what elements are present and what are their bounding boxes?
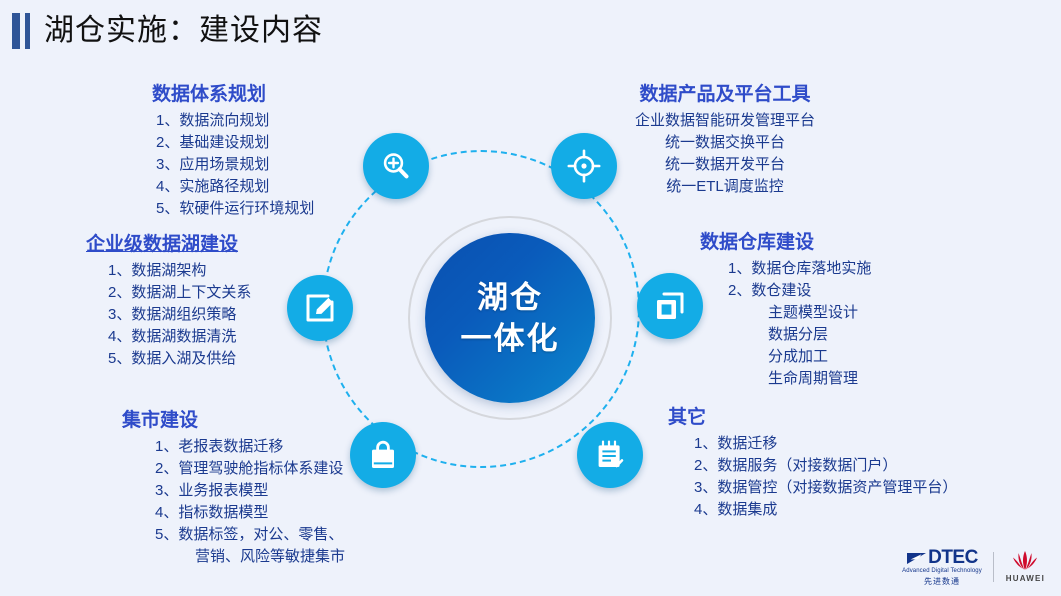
list-item: 1、老报表数据迁移 [155, 436, 345, 458]
magnifier-plus-icon[interactable] [363, 133, 429, 199]
list-item: 3、数据管控（对接数据资产管理平台） [694, 477, 957, 499]
footer-logo-group: DTEC Advanced Digital Technology 先进数通 HU… [902, 546, 1045, 588]
center-hub-line-1: 湖仓 [477, 277, 543, 318]
block-data-system-planning: 数据体系规划 1、数据流向规划 2、基础建设规划 3、应用场景规划 4、实施路径… [120, 82, 314, 220]
list-item: 5、数据入湖及供给 [108, 348, 251, 370]
list-item: 营销、风险等敏捷集市 [155, 546, 345, 568]
block-heading: 其它 [668, 405, 957, 431]
list-item: 3、业务报表模型 [155, 480, 345, 502]
list-item: 2、管理驾驶舱指标体系建设 [155, 458, 345, 480]
list-item: 3、数据湖组织策略 [108, 304, 251, 326]
title-accent-bar-outer [12, 13, 20, 49]
list-item: 5、软硬件运行环境规划 [156, 198, 314, 220]
block-item-list: 1、数据仓库落地实施 2、数仓建设 主题模型设计 数据分层 分成加工 生命周期管… [700, 258, 871, 390]
dtec-tagline: Advanced Digital Technology [902, 567, 982, 576]
list-item: 4、指标数据模型 [155, 502, 345, 524]
list-item: 2、基础建设规划 [156, 132, 314, 154]
list-item: 1、数据流向规划 [156, 110, 314, 132]
block-item-list: 1、老报表数据迁移 2、管理驾驶舱指标体系建设 3、业务报表模型 4、指标数据模… [117, 436, 345, 568]
list-item: 1、数据湖架构 [108, 260, 251, 282]
list-item: 4、实施路径规划 [156, 176, 314, 198]
list-item: 生命周期管理 [728, 368, 871, 390]
center-hub-line-2: 一体化 [461, 318, 560, 359]
list-item: 4、数据集成 [694, 499, 957, 521]
list-item: 1、数据迁移 [694, 433, 957, 455]
dtec-arrow-icon [906, 549, 928, 566]
dtec-logo-row: DTEC [906, 548, 978, 567]
block-item-list: 企业数据智能研发管理平台 统一数据交换平台 统一数据开发平台 统一ETL调度监控 [600, 110, 850, 198]
edit-pencil-icon[interactable] [287, 275, 353, 341]
copy-layers-icon[interactable] [637, 273, 703, 339]
list-item: 2、数仓建设 [728, 280, 871, 302]
block-data-mart: 集市建设 1、老报表数据迁移 2、管理驾驶舱指标体系建设 3、业务报表模型 4、… [117, 408, 345, 568]
list-item: 统一ETL调度监控 [600, 176, 850, 198]
huawei-flower-icon [1010, 550, 1040, 572]
block-enterprise-data-lake: 企业级数据湖建设 1、数据湖架构 2、数据湖上下文关系 3、数据湖组织策略 4、… [78, 232, 251, 370]
dtec-logo: DTEC Advanced Digital Technology 先进数通 [902, 548, 993, 587]
huawei-wordmark: HUAWEI [1006, 573, 1045, 584]
block-item-list: 1、数据流向规划 2、基础建设规划 3、应用场景规划 4、实施路径规划 5、软硬… [120, 110, 314, 220]
list-item: 3、应用场景规划 [156, 154, 314, 176]
slide-header: 湖仓实施：建设内容 [0, 0, 1061, 62]
list-item: 5、数据标签，对公、零售、 [155, 524, 345, 546]
block-heading: 数据仓库建设 [700, 230, 871, 256]
list-item: 2、数据服务（对接数据门户） [694, 455, 957, 477]
list-item: 统一数据开发平台 [600, 154, 850, 176]
block-data-products-platform-tools: 数据产品及平台工具 企业数据智能研发管理平台 统一数据交换平台 统一数据开发平台… [600, 82, 850, 198]
page-title: 湖仓实施：建设内容 [44, 8, 323, 54]
title-accent-bar-inner [25, 13, 30, 49]
notepad-check-icon[interactable] [577, 422, 643, 488]
block-item-list: 1、数据湖架构 2、数据湖上下文关系 3、数据湖组织策略 4、数据湖数据清洗 5… [78, 260, 251, 370]
list-item: 2、数据湖上下文关系 [108, 282, 251, 304]
list-item: 企业数据智能研发管理平台 [600, 110, 850, 132]
block-heading: 数据产品及平台工具 [600, 82, 850, 108]
block-heading: 集市建设 [117, 408, 345, 434]
block-item-list: 1、数据迁移 2、数据服务（对接数据门户） 3、数据管控（对接数据资产管理平台）… [668, 433, 957, 521]
dtec-wordmark: DTEC [928, 548, 978, 567]
list-item: 1、数据仓库落地实施 [728, 258, 871, 280]
block-data-warehouse: 数据仓库建设 1、数据仓库落地实施 2、数仓建设 主题模型设计 数据分层 分成加… [700, 230, 871, 390]
list-item: 数据分层 [728, 324, 871, 346]
list-item: 分成加工 [728, 346, 871, 368]
huawei-logo: HUAWEI [994, 550, 1045, 584]
list-item: 4、数据湖数据清洗 [108, 326, 251, 348]
list-item: 统一数据交换平台 [600, 132, 850, 154]
block-other: 其它 1、数据迁移 2、数据服务（对接数据门户） 3、数据管控（对接数据资产管理… [668, 405, 957, 521]
list-item: 主题模型设计 [728, 302, 871, 324]
shopping-bag-icon[interactable] [350, 422, 416, 488]
block-heading: 数据体系规划 [120, 82, 314, 108]
dtec-chinese-name: 先进数通 [924, 576, 960, 587]
block-heading: 企业级数据湖建设 [78, 232, 251, 258]
center-hub: 湖仓 一体化 [425, 233, 595, 403]
